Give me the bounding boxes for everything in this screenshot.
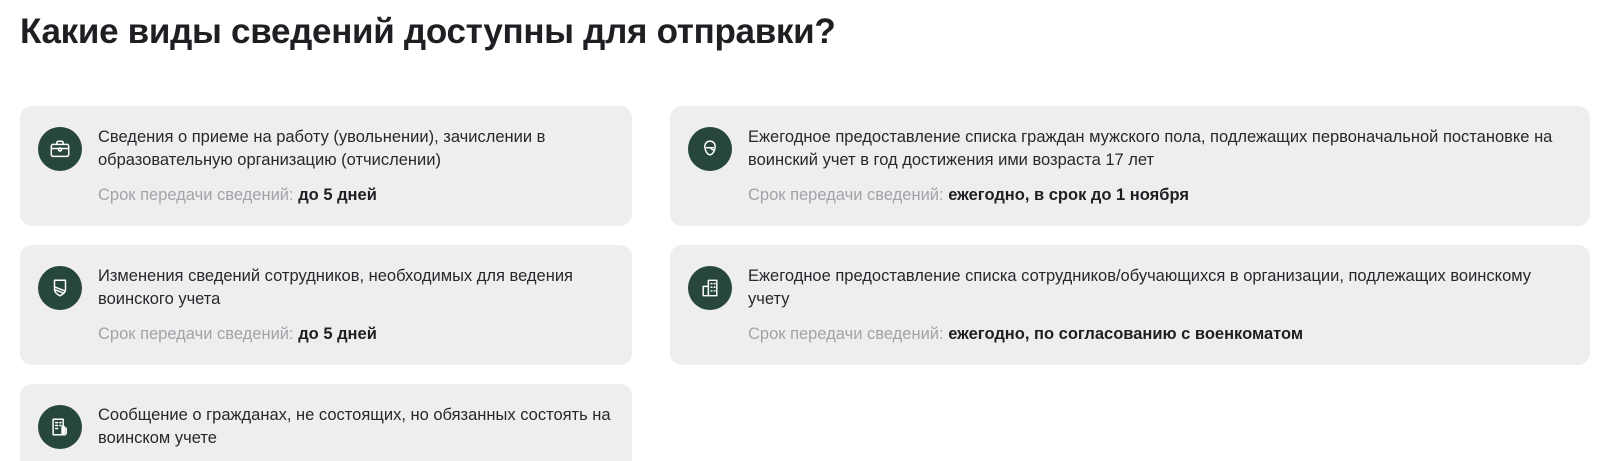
- card-heading: Ежегодное предоставление списка граждан …: [748, 126, 1570, 172]
- shield-icon: [38, 266, 82, 310]
- card-body: Ежегодное предоставление списка сотрудни…: [748, 264, 1570, 345]
- card-term-value: ежегодно, по согласованию с военкоматом: [948, 325, 1303, 343]
- left-column: Сведения о приеме на работу (увольнении)…: [20, 106, 632, 461]
- right-column: Ежегодное предоставление списка граждан …: [670, 106, 1590, 461]
- card-body: Сообщение о гражданах, не состоящих, но …: [98, 403, 612, 461]
- card-heading: Изменения сведений сотрудников, необходи…: [98, 265, 612, 311]
- card-heading: Сведения о приеме на работу (увольнении)…: [98, 126, 612, 172]
- card-employment-info[interactable]: Сведения о приеме на работу (увольнении)…: [20, 106, 632, 226]
- card-unregistered-citizens[interactable]: Сообщение о гражданах, не состоящих, но …: [20, 384, 632, 461]
- card-term-label: Срок передачи сведений:: [748, 186, 944, 204]
- card-employee-data-changes[interactable]: Изменения сведений сотрудников, необходи…: [20, 245, 632, 365]
- card-term: Срок передачи сведений: ежегодно, по сог…: [748, 323, 1570, 345]
- card-term: Срок передачи сведений: до 5 дней: [98, 323, 612, 345]
- card-term-value: до 5 дней: [298, 325, 377, 343]
- card-annual-employees-list[interactable]: Ежегодное предоставление списка сотрудни…: [670, 245, 1590, 365]
- card-term-label: Срок передачи сведений:: [98, 186, 294, 204]
- document-attachment-icon: [38, 405, 82, 449]
- briefcase-icon: [38, 127, 82, 171]
- card-term-label: Срок передачи сведений:: [748, 325, 944, 343]
- person-head-icon: [688, 127, 732, 171]
- card-body: Сведения о приеме на работу (увольнении)…: [98, 125, 612, 206]
- cards-grid: Сведения о приеме на работу (увольнении)…: [20, 106, 1590, 461]
- card-term-value: ежегодно, в срок до 1 ноября: [948, 186, 1189, 204]
- card-body: Ежегодное предоставление списка граждан …: [748, 125, 1570, 206]
- page-root: Какие виды сведений доступны для отправк…: [0, 0, 1600, 461]
- card-annual-male-citizens-list[interactable]: Ежегодное предоставление списка граждан …: [670, 106, 1590, 226]
- card-term-label: Срок передачи сведений:: [98, 325, 294, 343]
- card-heading: Сообщение о гражданах, не состоящих, но …: [98, 404, 612, 450]
- card-term-value: до 5 дней: [298, 186, 377, 204]
- card-term: Срок передачи сведений: ежегодно, в срок…: [748, 184, 1570, 206]
- building-icon: [688, 266, 732, 310]
- card-body: Изменения сведений сотрудников, необходи…: [98, 264, 612, 345]
- card-term: Срок передачи сведений: до 5 дней: [98, 184, 612, 206]
- card-heading: Ежегодное предоставление списка сотрудни…: [748, 265, 1570, 311]
- page-title: Какие виды сведений доступны для отправк…: [20, 10, 835, 54]
